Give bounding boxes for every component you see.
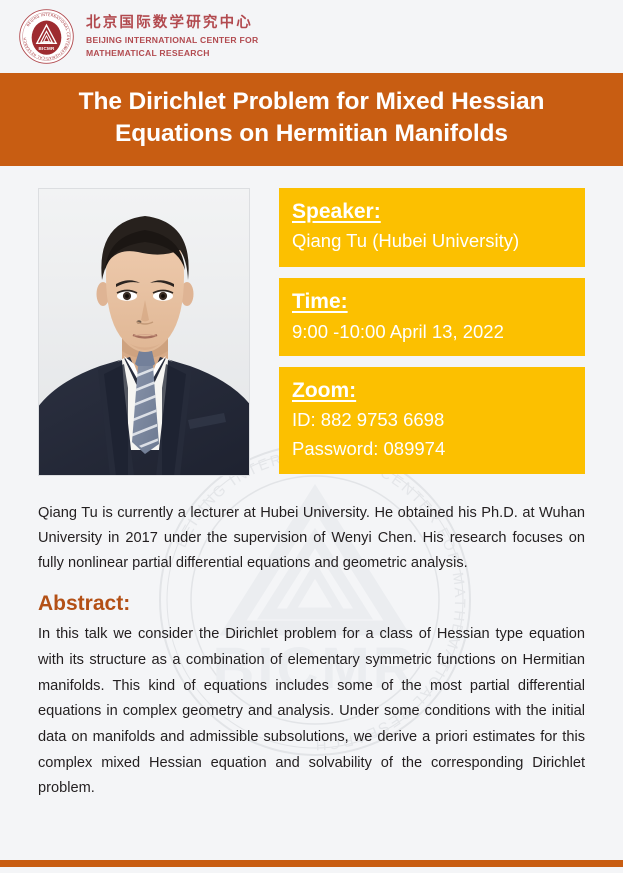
time-label: Time: [292,288,348,315]
title-banner: The Dirichlet Problem for Mixed Hessian … [0,73,623,166]
info-boxes: Speaker: Qiang Tu (Hubei University) Tim… [279,188,585,485]
speaker-bio: Qiang Tu is currently a lecturer at Hube… [38,501,585,576]
org-name-english: BEIJING INTERNATIONAL CENTER FOR MATHEMA… [86,34,258,59]
abstract-heading: Abstract: [38,590,585,617]
speaker-row: Speaker: Qiang Tu (Hubei University) Tim… [38,188,585,485]
time-info-box: Time: 9:00 -10:00 April 13, 2022 [279,278,585,356]
svg-text:BICMR: BICMR [38,46,55,51]
zoom-label: Zoom: [292,377,356,404]
org-name-english-line2: MATHEMATICAL RESEARCH [86,47,258,59]
bicmr-seal-logo: BEIJING INTERNATIONAL CENTER MATHEMATICA… [18,8,75,65]
speaker-label: Speaker: [292,198,381,225]
speaker-info-box: Speaker: Qiang Tu (Hubei University) [279,188,585,268]
talk-title-line2: Equations on Hermitian Manifolds [55,118,568,150]
zoom-meeting-id: ID: 882 9753 6698 [292,407,572,433]
speaker-photo [38,188,250,476]
talk-title-line1: The Dirichlet Problem for Mixed Hessian [55,86,568,118]
org-name-block: 北京国际数学研究中心 BEIJING INTERNATIONAL CENTER … [86,14,258,59]
speaker-portrait-image [38,188,250,476]
zoom-password: Password: 089974 [292,436,572,462]
time-value: 9:00 -10:00 April 13, 2022 [292,319,572,345]
org-name-chinese: 北京国际数学研究中心 [86,14,258,32]
abstract-body: In this talk we consider the Dirichlet p… [38,622,585,802]
zoom-info-box: Zoom: ID: 882 9753 6698 Password: 089974 [279,367,585,474]
org-name-english-line1: BEIJING INTERNATIONAL CENTER FOR [86,34,258,46]
poster-body: Speaker: Qiang Tu (Hubei University) Tim… [0,188,623,802]
page-header: BEIJING INTERNATIONAL CENTER MATHEMATICA… [0,0,623,73]
footer-bar [0,860,623,867]
speaker-value: Qiang Tu (Hubei University) [292,228,572,254]
